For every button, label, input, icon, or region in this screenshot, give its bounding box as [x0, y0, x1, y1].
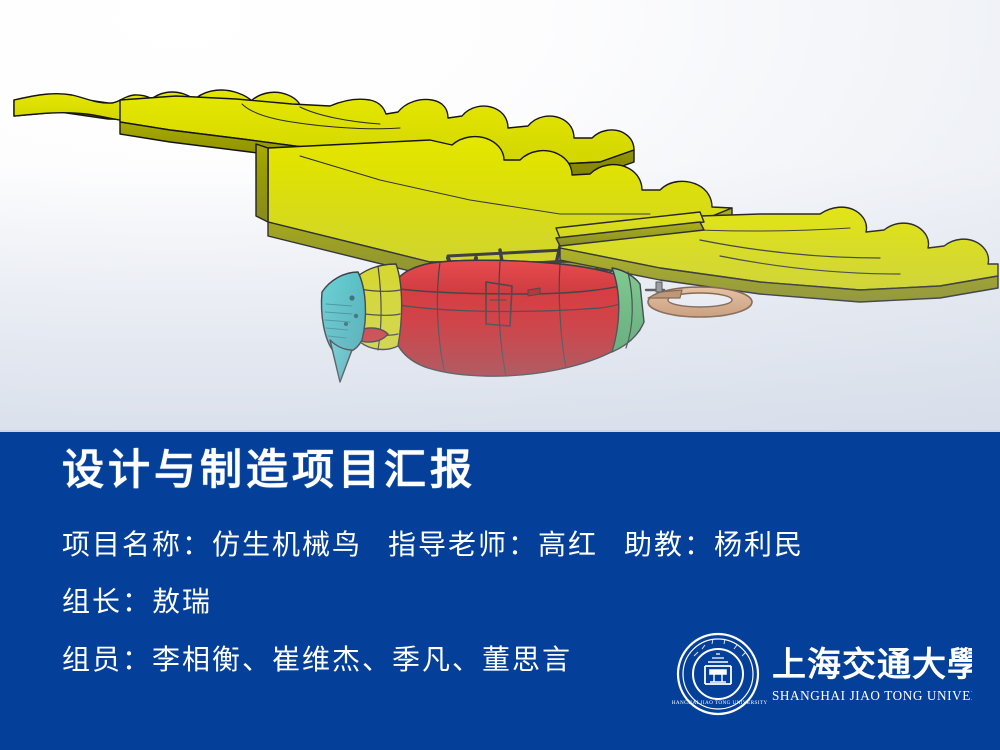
team-members-line: 组员：李相衡、崔维杰、季凡、董思言	[62, 647, 572, 675]
logo-english-wordmark: SHANGHAI JIAO TONG UNIVERSITY	[772, 688, 972, 703]
project-line-text: 项目名称：仿生机械鸟	[62, 530, 362, 561]
logo-chinese-wordmark: 上海交通大學	[772, 645, 972, 684]
team-leader-line: 组长：敖瑞	[62, 589, 212, 617]
advisor-line-text: 指导老师：高红	[388, 530, 598, 561]
fuselage-body-red	[392, 260, 640, 376]
sjtu-logo-graphic: SHANGHAI JIAO TONG UNIVERSITY 上海交通大學 SHA…	[672, 628, 972, 724]
bionic-bird-cad-illustration	[0, 0, 1000, 432]
head-teal	[322, 272, 366, 382]
title-slide: 设计与制造项目汇报 项目名称：仿生机械鸟指导老师：高红助教：杨利民 组长：敖瑞 …	[0, 0, 1000, 750]
blue-info-band: 设计与制造项目汇报 项目名称：仿生机械鸟指导老师：高红助教：杨利民 组长：敖瑞 …	[0, 432, 1000, 750]
cad-render-area	[0, 0, 1000, 432]
seal-ring-text: SHANGHAI JIAO TONG UNIVERSITY	[672, 700, 768, 706]
page-title: 设计与制造项目汇报	[62, 450, 476, 492]
ta-line-text: 助教：杨利民	[624, 530, 804, 561]
sjtu-logo: SHANGHAI JIAO TONG UNIVERSITY 上海交通大學 SHA…	[672, 628, 972, 724]
project-info-line: 项目名称：仿生机械鸟指导老师：高红助教：杨利民	[62, 532, 804, 560]
